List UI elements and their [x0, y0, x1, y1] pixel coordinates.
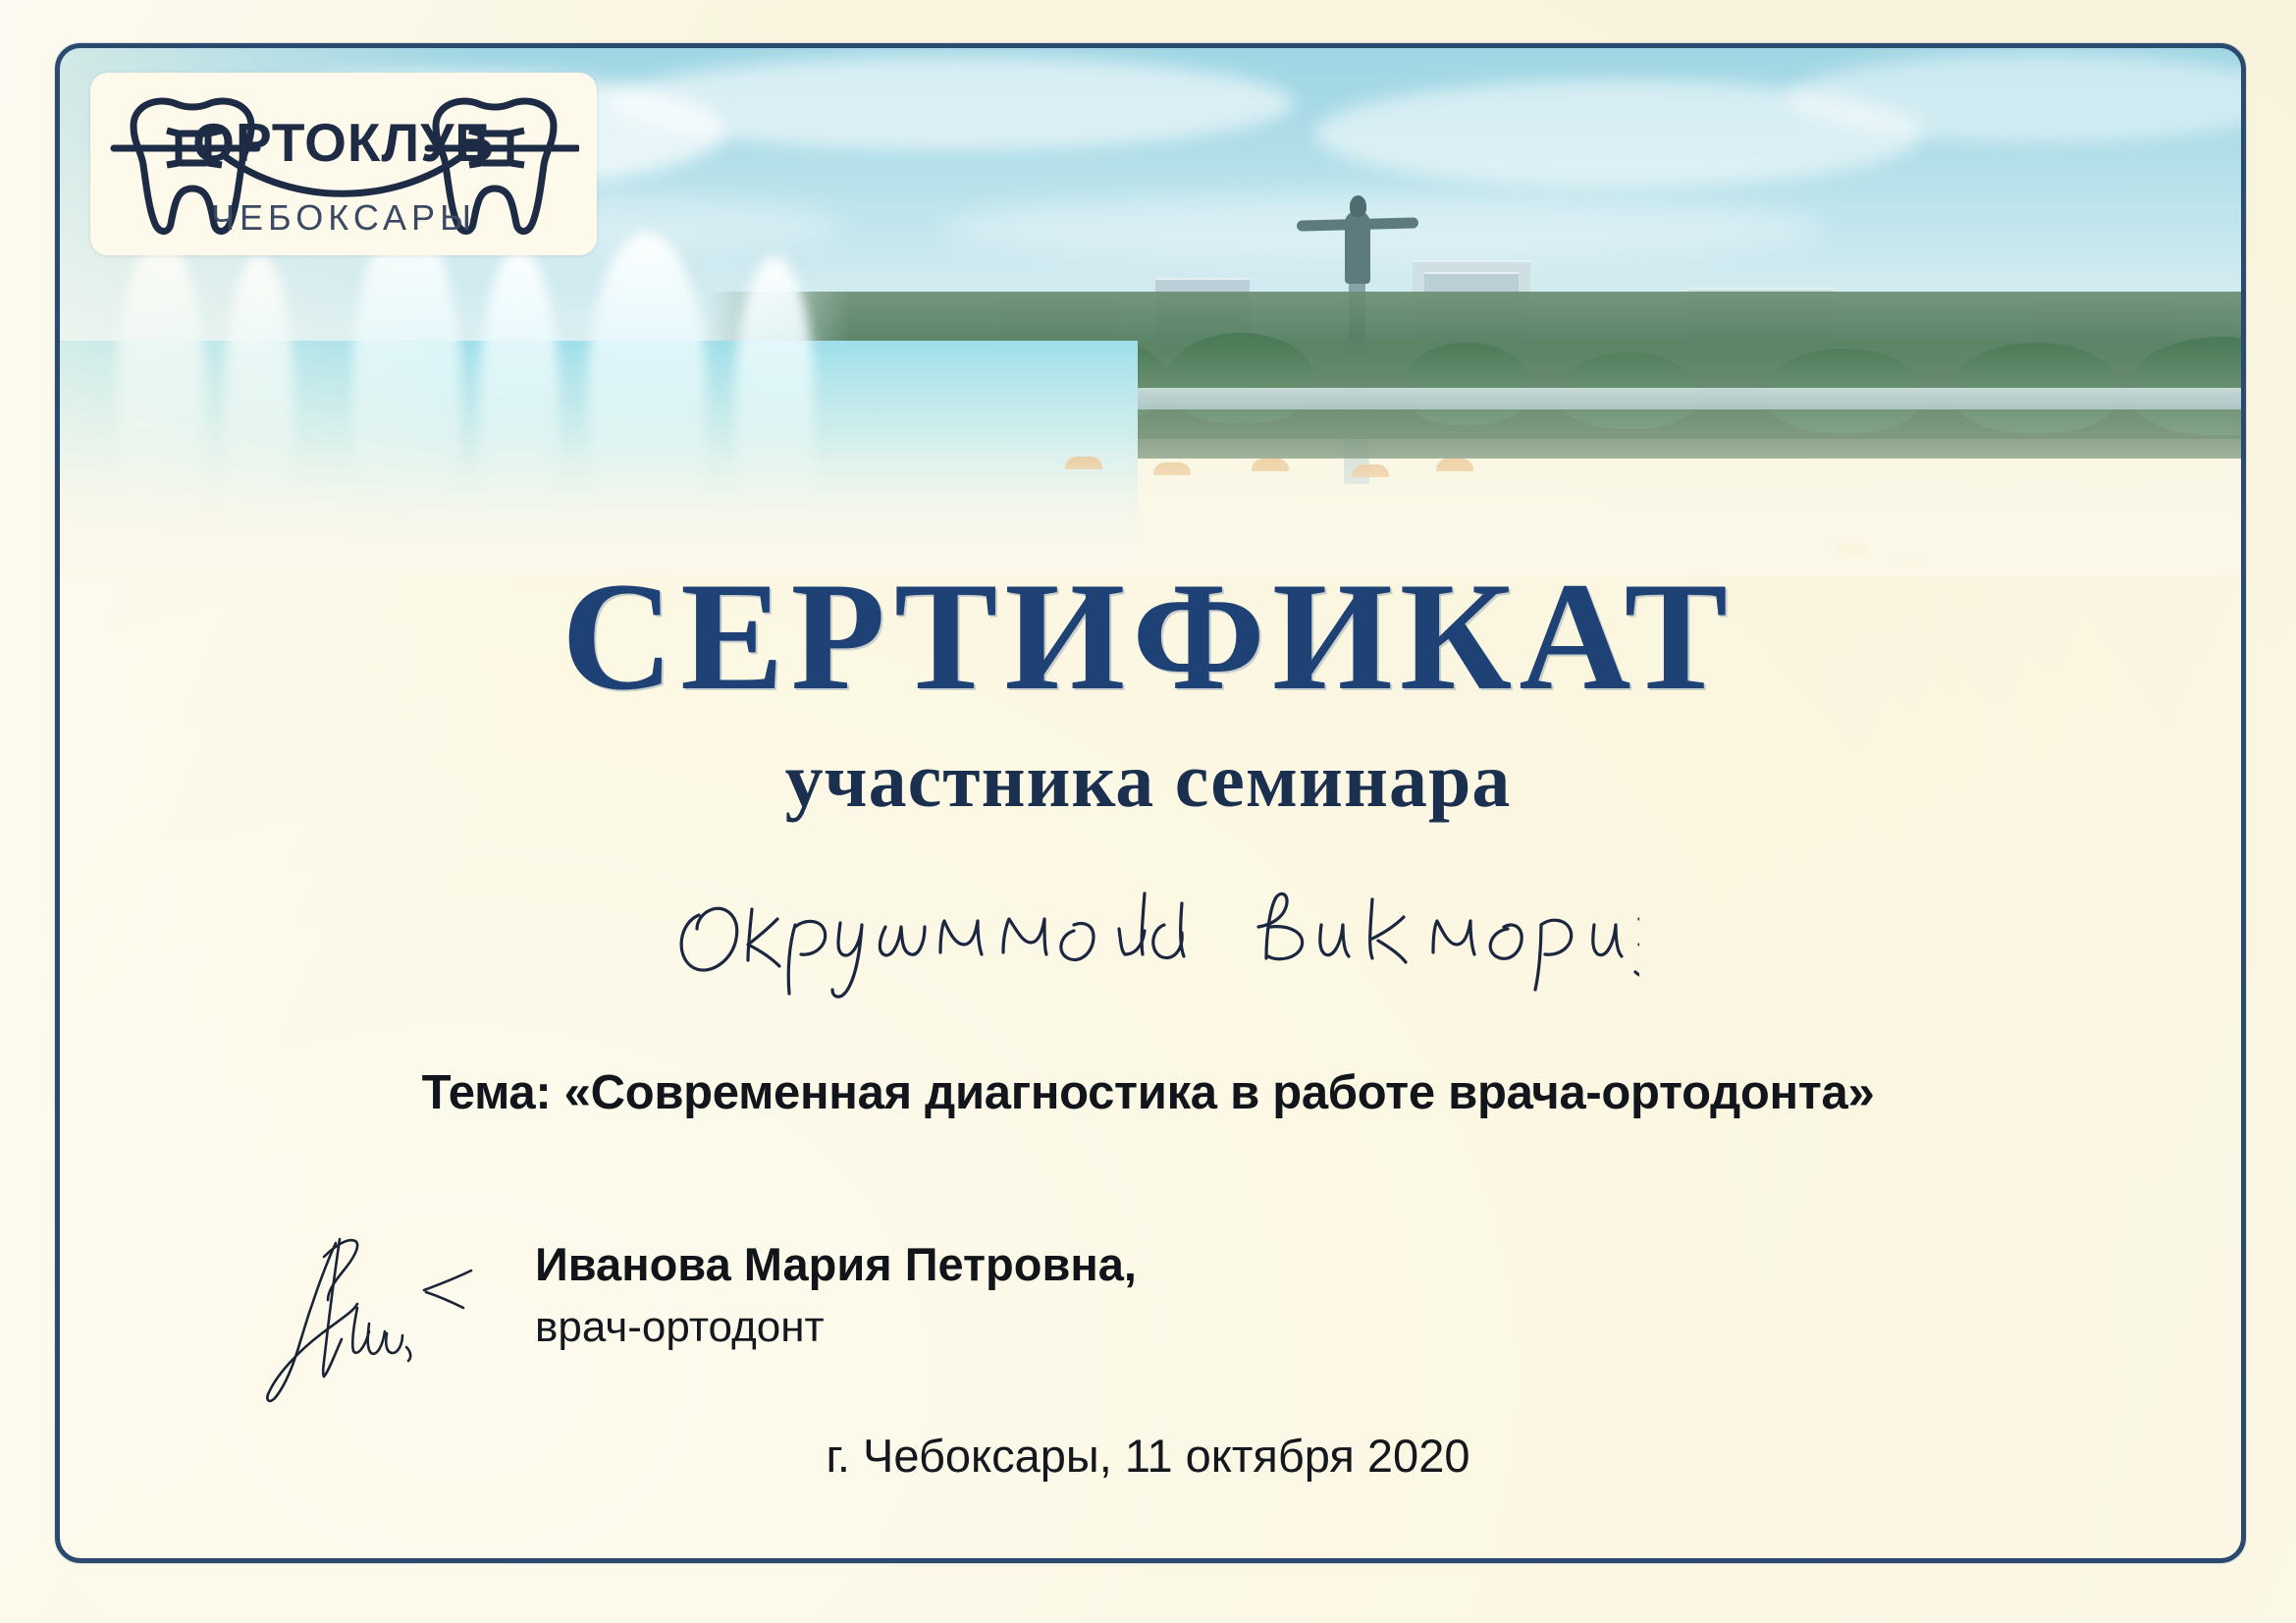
- handwritten-signature: [263, 1214, 518, 1410]
- recipient-handwritten-name: [0, 864, 2296, 1016]
- signatory-name: Иванова Мария Петровна,: [535, 1237, 1137, 1291]
- signature-row: Иванова Мария Петровна, врач-ортодонт: [0, 1217, 2296, 1414]
- place-and-date: г. Чебоксары, 11 октября 2020: [0, 1429, 2296, 1483]
- certificate-subtitle: участника семинара: [0, 742, 2296, 819]
- ortoclub-logo-badge: ОРТОКЛУБ ЧЕБОКСАРЫ: [90, 73, 597, 255]
- certificate-page: ОРТОКЛУБ ЧЕБОКСАРЫ СЕРТИФИКАТ участника …: [0, 0, 2296, 1623]
- seminar-theme: Тема: «Современная диагностика в работе …: [0, 1065, 2296, 1120]
- handwriting-strokes: [658, 864, 1639, 1011]
- ortoclub-logo: ОРТОКЛУБ ЧЕБОКСАРЫ: [108, 86, 579, 242]
- certificate-title: СЕРТИФИКАТ: [0, 560, 2296, 715]
- signatory-role: врач-ортодонт: [535, 1303, 825, 1352]
- logo-title: ОРТОКЛУБ: [192, 112, 495, 173]
- logo-subtitle: ЧЕБОКСАРЫ: [211, 197, 476, 238]
